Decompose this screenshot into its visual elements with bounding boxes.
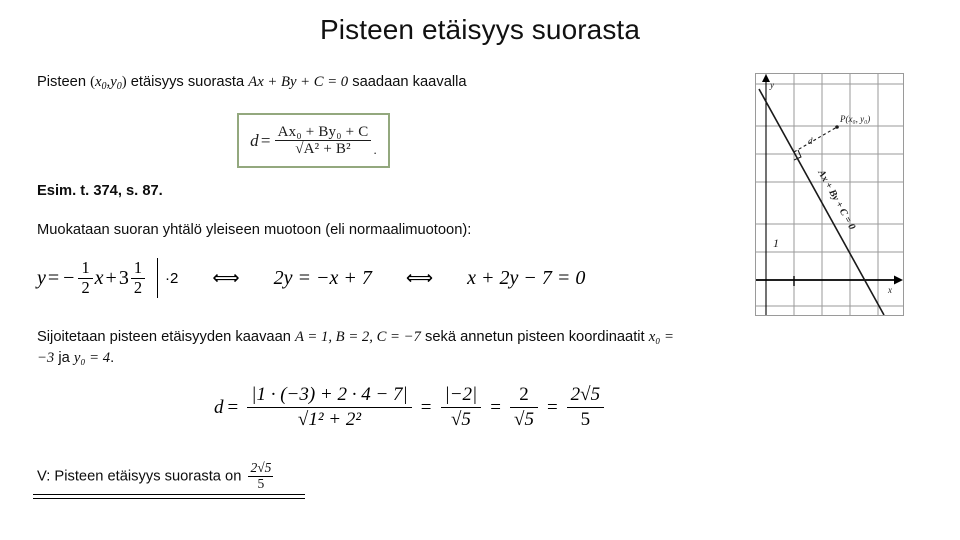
formula-denominator: √A² + B² bbox=[275, 140, 372, 157]
y-axis-label: y bbox=[769, 80, 774, 90]
eq1-frac2-denominator: 2 bbox=[131, 278, 145, 297]
calc-frac4-numerator: 2√5 bbox=[567, 384, 604, 407]
eq1-y: y bbox=[37, 267, 46, 290]
intro-suffix: saadaan kaavalla bbox=[348, 74, 466, 90]
calc-d: d bbox=[214, 397, 224, 419]
eq1-whole-number: 3 bbox=[119, 267, 129, 290]
eq1-frac2-numerator: 1 bbox=[131, 259, 145, 277]
distance-formula-content: d = Ax₀ + By₀ + C √A² + B² . bbox=[239, 115, 388, 166]
equation-step-1: y = − 1 2 x + 3 1 2 bbox=[37, 259, 147, 297]
distance-calculation: d = |1 · (−3) + 2 · 4 − 7| √1² + 2² = |−… bbox=[214, 384, 609, 432]
equation-vertical-divider bbox=[157, 258, 158, 298]
calc-frac3-numerator: 2 bbox=[510, 384, 538, 407]
equation-multiplier: ·2 bbox=[165, 270, 178, 287]
eq1-frac-denominator: 2 bbox=[78, 278, 92, 297]
formula-numerator: Ax₀ + By₀ + C bbox=[275, 124, 372, 140]
calc-equals-0: = bbox=[224, 397, 243, 419]
calc-fraction-1: |1 · (−3) + 2 · 4 − 7| √1² + 2² bbox=[247, 384, 412, 432]
answer-fraction: 2√5 5 bbox=[248, 461, 273, 492]
calc-frac1-numerator: |1 · (−3) + 2 · 4 − 7| bbox=[247, 384, 412, 407]
eq1-x: x bbox=[95, 267, 104, 290]
formula-equals: = bbox=[259, 131, 273, 151]
distance-label: d bbox=[808, 136, 813, 146]
substitute-text-before: Sijoitetaan pisteen etäisyyden kaavaan bbox=[37, 329, 295, 345]
answer-frac-denominator: 5 bbox=[248, 476, 273, 492]
substitute-text-ja: ja bbox=[54, 350, 74, 366]
substitute-coord-y: y₀ = 4 bbox=[74, 350, 110, 366]
intro-paragraph: Pisteen (x0,y0) etäisyys suorasta Ax + B… bbox=[37, 72, 657, 94]
eq1-fraction-half-2: 1 2 bbox=[131, 259, 145, 297]
grid-vertical-lines bbox=[766, 74, 878, 315]
substitute-text-end: . bbox=[110, 350, 114, 366]
intro-prefix: Pisteen bbox=[37, 74, 90, 90]
point-p-marker bbox=[835, 125, 839, 129]
answer-underline-top bbox=[33, 494, 305, 495]
calc-frac3-denominator: √5 bbox=[510, 407, 538, 431]
formula-d: d bbox=[250, 131, 259, 151]
eq1-frac-numerator: 1 bbox=[78, 259, 92, 277]
answer-underline-bottom bbox=[33, 498, 305, 499]
distance-formula-box: d = Ax₀ + By₀ + C √A² + B² . bbox=[237, 113, 390, 168]
calc-fraction-4: 2√5 5 bbox=[567, 384, 604, 432]
equivalence-arrow-2: ⟺ bbox=[372, 267, 467, 290]
calc-frac1-denominator: √1² + 2² bbox=[247, 407, 412, 431]
substitute-text-middle: sekä annetun pisteen koordinaatit bbox=[421, 329, 649, 345]
equation-step-3: x + 2y − 7 = 0 bbox=[467, 267, 585, 290]
answer-frac-numerator: 2√5 bbox=[248, 461, 273, 476]
substitute-coefficients: A = 1, B = 2, C = −7 bbox=[295, 329, 421, 345]
page-title: Pisteen etäisyys suorasta bbox=[0, 14, 960, 46]
answer-paragraph: V: Pisteen etäisyys suorasta on 2√5 5 bbox=[37, 461, 273, 492]
intro-middle: etäisyys suorasta bbox=[127, 74, 249, 90]
calc-fraction-3: 2 √5 bbox=[510, 384, 538, 432]
coordinate-system-figure: y x 1 P(x₀, y₀) d Ax + By + C = 0 bbox=[755, 73, 904, 316]
eq1-equals: = bbox=[46, 267, 61, 290]
equation-step-2: 2y = −x + 7 bbox=[274, 267, 372, 290]
substitution-paragraph: Sijoitetaan pisteen etäisyyden kaavaan A… bbox=[37, 327, 677, 370]
eq1-minus: − bbox=[61, 267, 76, 290]
line-equation-label: Ax + By + C = 0 bbox=[815, 167, 857, 231]
calc-frac4-denominator: 5 bbox=[567, 407, 604, 431]
x-axis-label: x bbox=[887, 285, 892, 295]
example-heading: Esim. t. 374, s. 87. bbox=[37, 181, 163, 202]
y-axis bbox=[762, 74, 770, 315]
point-p-label: P(x₀, y₀) bbox=[839, 114, 870, 124]
calc-equals-2: = bbox=[486, 397, 505, 419]
eq1-plus: + bbox=[104, 267, 119, 290]
calc-frac2-denominator: √5 bbox=[441, 407, 482, 431]
unit-label: 1 bbox=[773, 236, 779, 250]
line-equation-transformation: y = − 1 2 x + 3 1 2 ·2 ⟺ 2y = −x + 7 ⟺ x… bbox=[37, 258, 585, 298]
answer-prefix: V: Pisteen etäisyys suorasta on bbox=[37, 468, 245, 484]
x-axis bbox=[756, 276, 903, 285]
equivalence-arrow-1: ⟺ bbox=[178, 267, 273, 290]
intro-line-equation: Ax + By + C = 0 bbox=[248, 74, 348, 90]
formula-trailing-dot: . bbox=[373, 142, 376, 166]
eq1-fraction-half: 1 2 bbox=[78, 259, 92, 297]
figure-svg: y x 1 P(x₀, y₀) d Ax + By + C = 0 bbox=[756, 74, 903, 315]
normal-form-paragraph: Muokataan suoran yhtälö yleiseen muotoon… bbox=[37, 220, 677, 241]
calc-equals-3: = bbox=[543, 397, 562, 419]
distance-segment bbox=[794, 127, 837, 152]
calc-frac2-numerator: |−2| bbox=[441, 384, 482, 407]
calc-fraction-2: |−2| √5 bbox=[441, 384, 482, 432]
formula-fraction: Ax₀ + By₀ + C √A² + B² bbox=[275, 124, 372, 157]
calc-equals-1: = bbox=[417, 397, 436, 419]
